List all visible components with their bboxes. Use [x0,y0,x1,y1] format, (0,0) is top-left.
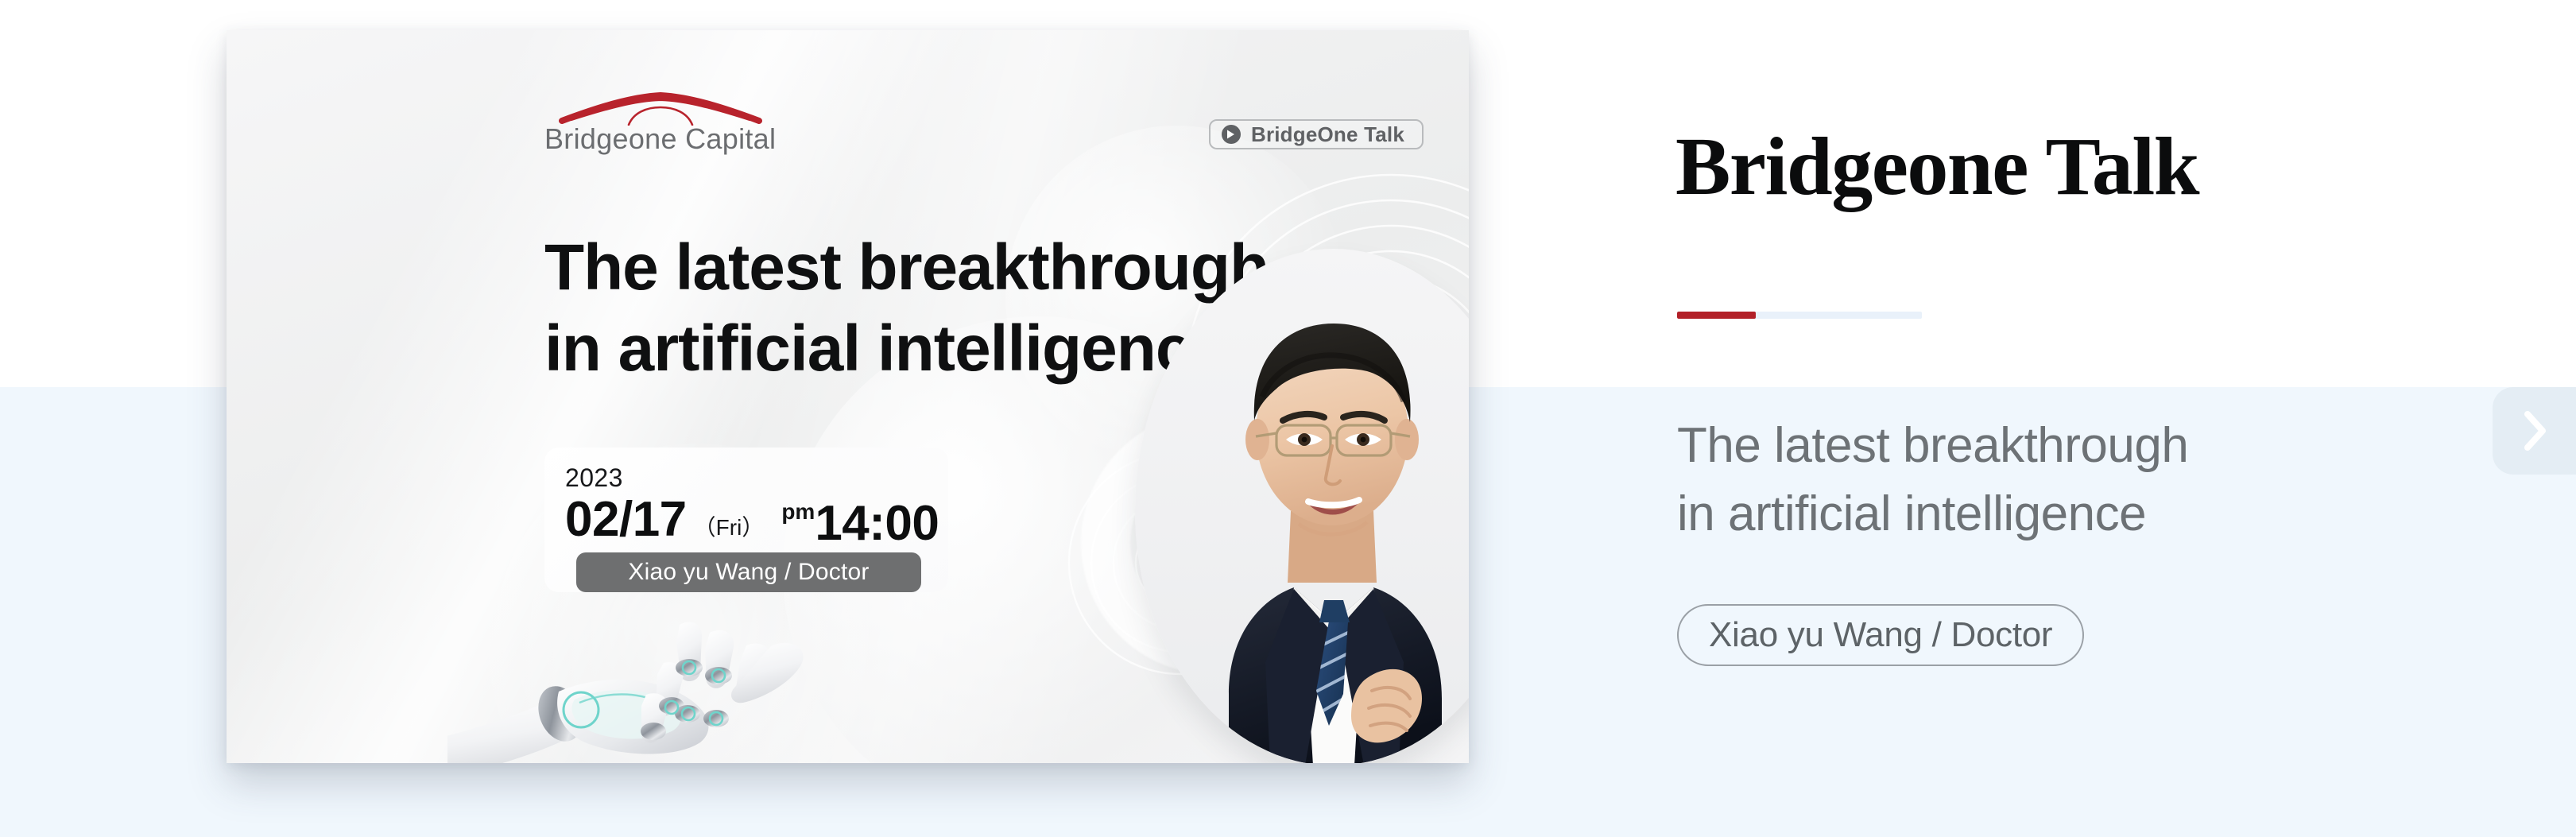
chevron-right-icon [2521,409,2548,452]
speaker-button-label: Xiao yu Wang / Doctor [1709,615,2052,655]
schedule-ampm: pm [781,501,815,523]
bridgeone-talk-badge[interactable]: BridgeOne Talk [1209,119,1424,149]
schedule-date: 02/17 [565,495,687,544]
schedule-datetime-row: 02/17 （Fri） pm 14:00 [565,495,928,544]
speaker-pill: Xiao yu Wang / Doctor [576,552,921,592]
bridge-arc-icon [544,92,783,126]
slide-headline: The latest breakthrough in artificial in… [544,227,1269,389]
next-slide-button[interactable] [2493,387,2576,475]
right-content-column: Bridgeone Talk The latest breakthrough i… [1675,0,2470,837]
schedule-block: 2023 02/17 （Fri） pm 14:00 Xiao yu Wang /… [544,448,948,592]
play-icon [1222,125,1241,144]
page-stage: Bridgeone Capital BridgeOne Talk The lat… [0,0,2576,837]
schedule-year: 2023 [565,465,928,490]
schedule-time-group: pm 14:00 [781,504,939,544]
progress-indicator-fill [1677,312,1756,319]
badge-label: BridgeOne Talk [1251,122,1404,147]
speaker-button[interactable]: Xiao yu Wang / Doctor [1677,604,2084,666]
brand-logo: Bridgeone Capital [544,92,783,156]
schedule-time: 14:00 [815,504,939,544]
slide-card[interactable]: Bridgeone Capital BridgeOne Talk The lat… [227,30,1469,763]
logo-wordmark: Bridgeone Capital [544,122,783,156]
schedule-day-of-week: （Fri） [694,517,765,539]
progress-indicator[interactable] [1677,312,1922,319]
session-headline: The latest breakthrough in artificial in… [1677,412,2188,548]
page-title: Bridgeone Talk [1675,126,2198,208]
speaker-pill-label: Xiao yu Wang / Doctor [628,559,869,586]
robot-hand-illustration [447,587,821,763]
